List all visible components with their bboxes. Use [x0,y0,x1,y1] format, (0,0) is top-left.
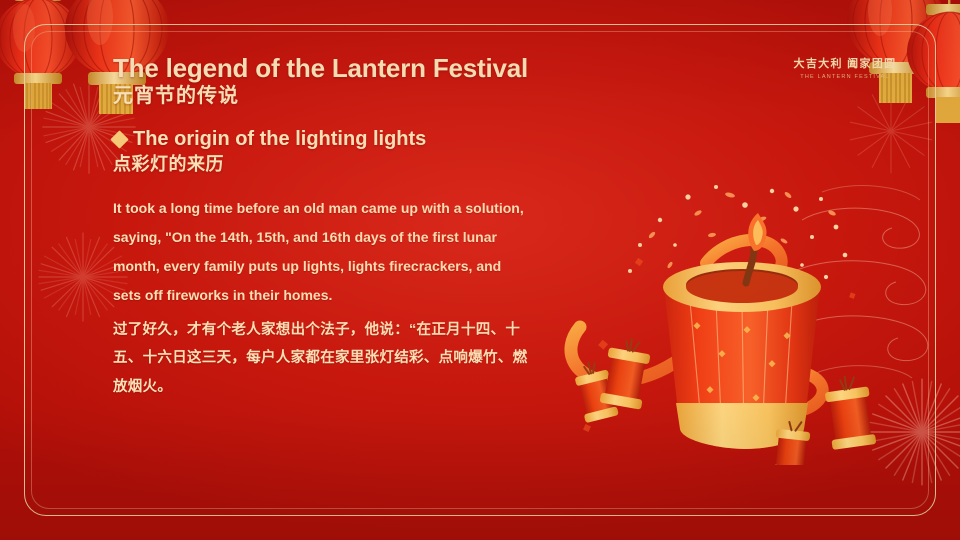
body-paragraph-english: It took a long time before an old man ca… [113,194,531,310]
diamond-bullet-icon [110,131,128,149]
badge: 大吉大利 阖家团圆 THE LANTERN FESTIVAL [780,55,910,80]
badge-chinese-text: 大吉大利 阖家团圆 [780,55,910,71]
section-subtitle-chinese: 点彩灯的来历 [113,154,543,176]
section-heading: The origin of the lighting lights 点彩灯的来历 [113,128,543,175]
body-paragraph-chinese: 过了好久，才有个老人家想出个法子，他说：“在正月十四、十五、十六日这三天，每户人… [113,316,533,401]
firework-burst-icon [836,76,946,186]
badge-english-text: THE LANTERN FESTIVAL [780,74,910,80]
section-subtitle-english-row: The origin of the lighting lights [113,128,543,152]
section-subtitle-english: The origin of the lighting lights [133,128,426,152]
firecracker-illustration [540,175,940,465]
page-title-chinese: 元宵节的传说 [113,84,543,108]
red-lantern-icon [900,0,960,130]
content-block: The legend of the Lantern Festival 元宵节的传… [113,54,543,401]
firework-burst-icon [862,372,960,492]
page-title-english: The legend of the Lantern Festival [113,54,543,82]
red-lantern-icon [838,0,956,110]
red-lantern-icon [0,0,92,116]
slide-canvas: 大吉大利 阖家团圆 THE LANTERN FESTIVAL [0,0,960,540]
cloud-swirl-lines-icon [792,180,942,410]
